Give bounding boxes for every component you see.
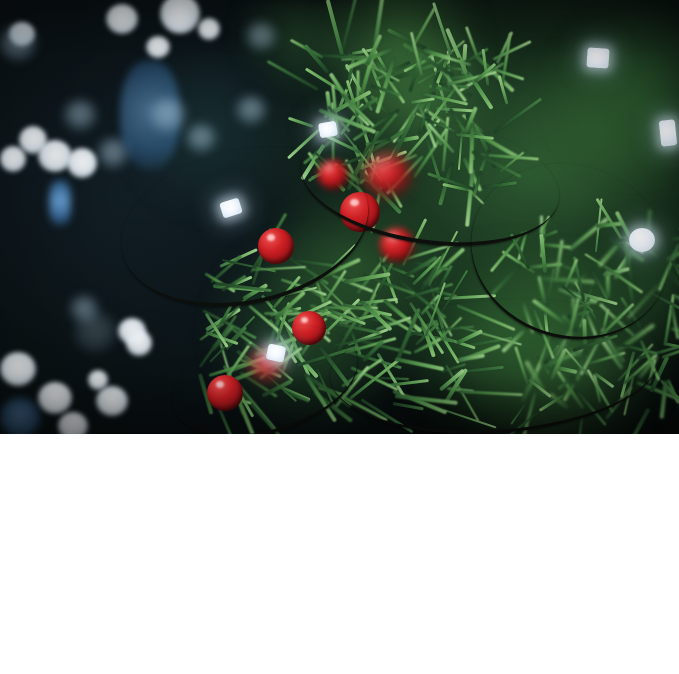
bokeh-light xyxy=(58,412,88,434)
bokeh-light xyxy=(150,98,186,132)
led-bulb xyxy=(318,121,338,139)
led-bulb xyxy=(586,47,609,68)
bokeh-light xyxy=(96,386,128,416)
bokeh-light xyxy=(64,100,96,130)
bokeh-light xyxy=(246,22,276,50)
bokeh-light xyxy=(67,148,97,178)
christmas-tree-lights-photo xyxy=(0,0,679,434)
bokeh-light xyxy=(106,4,138,34)
product-feature-graphic: Features Solar Powered Auto On/Off Memor… xyxy=(0,0,679,674)
bokeh-light xyxy=(74,312,116,352)
bokeh-light xyxy=(236,96,266,124)
bokeh-light xyxy=(0,146,26,172)
led-bulb xyxy=(659,119,678,147)
bokeh-light xyxy=(0,26,36,60)
bokeh-light xyxy=(88,370,108,390)
led-bulb xyxy=(629,228,655,252)
info-panel: Features Solar Powered Auto On/Off Memor… xyxy=(0,434,679,674)
bokeh-light xyxy=(146,36,170,58)
bokeh-light-blue xyxy=(0,398,40,434)
bokeh-light xyxy=(186,124,216,152)
bokeh-light xyxy=(166,6,192,30)
bokeh-light-blue xyxy=(49,180,71,226)
bokeh-light xyxy=(198,18,220,40)
bokeh-light xyxy=(0,352,36,386)
bokeh-light xyxy=(38,382,72,414)
led-bulb xyxy=(266,343,287,362)
bokeh-light xyxy=(126,330,152,356)
